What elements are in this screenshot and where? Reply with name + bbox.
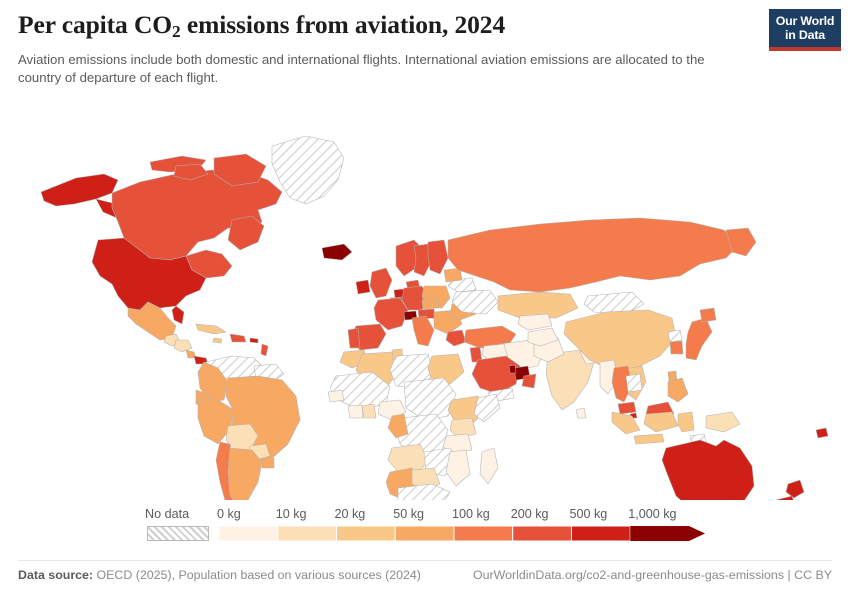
country-czechia[interactable] bbox=[422, 299, 439, 309]
world-map[interactable] bbox=[0, 100, 850, 500]
legend-tick-20kg: 20 kg bbox=[335, 507, 366, 521]
chart-header: Per capita CO2 emissions from aviation, … bbox=[18, 10, 832, 87]
legend-tick-100kg: 100 kg bbox=[452, 507, 490, 521]
owid-logo-line2: in Data bbox=[773, 28, 837, 42]
footer-divider bbox=[18, 560, 832, 561]
owid-logo-box: Our World in Data bbox=[769, 9, 841, 47]
legend-tick-10kg: 10 kg bbox=[276, 507, 307, 521]
owid-map-chart: Per capita CO2 emissions from aviation, … bbox=[0, 0, 850, 600]
country-japan[interactable] bbox=[686, 318, 712, 360]
legend-bin-0kg[interactable] bbox=[219, 526, 278, 541]
legend-bar-svg[interactable] bbox=[219, 526, 705, 541]
country-hispaniola[interactable] bbox=[230, 334, 246, 342]
legend-bin-200kg[interactable] bbox=[513, 526, 572, 541]
country-madagascar[interactable] bbox=[480, 448, 498, 484]
country-ghana[interactable] bbox=[362, 404, 376, 418]
legend-bin-10kg[interactable] bbox=[278, 526, 337, 541]
legend-no-data-swatch[interactable] bbox=[147, 526, 209, 541]
country-italy[interactable] bbox=[412, 316, 434, 346]
legend-tick-0kg: 0 kg bbox=[217, 507, 241, 521]
title-subscript: 2 bbox=[172, 22, 181, 41]
legend-tick-labels: 0 kg10 kg20 kg50 kg100 kg200 kg500 kg1,0… bbox=[219, 505, 705, 525]
country-lesser-antilles[interactable] bbox=[261, 344, 268, 356]
country-greenland[interactable] bbox=[272, 136, 344, 204]
country-uzbekistan[interactable] bbox=[518, 314, 552, 330]
country-new-zealand-north[interactable] bbox=[786, 480, 804, 498]
owid-logo[interactable]: Our World in Data bbox=[769, 9, 841, 51]
legend-tick-50kg: 50 kg bbox=[393, 507, 424, 521]
legend-tick-200kg: 200 kg bbox=[511, 507, 549, 521]
country-alaska[interactable] bbox=[41, 174, 118, 206]
country-ivory-coast[interactable] bbox=[348, 405, 363, 418]
country-argentina[interactable] bbox=[228, 448, 262, 500]
data-source-text: OECD (2025), Population based on various… bbox=[97, 568, 421, 582]
legend-bin-20kg[interactable] bbox=[337, 526, 396, 541]
legend-bin-50kg[interactable] bbox=[395, 526, 454, 541]
legend-color-bar[interactable] bbox=[219, 526, 705, 541]
country-finland[interactable] bbox=[428, 240, 448, 274]
legend-bin-100kg[interactable] bbox=[454, 526, 513, 541]
country-iceland[interactable] bbox=[322, 244, 352, 260]
legend-tick-1000kg: 1,000 kg bbox=[628, 507, 676, 521]
country-qatar[interactable] bbox=[509, 365, 516, 373]
country-united-kingdom[interactable] bbox=[370, 268, 392, 298]
country-australia[interactable] bbox=[662, 440, 754, 500]
owid-logo-line1: Our World bbox=[773, 14, 837, 28]
country-kazakhstan[interactable] bbox=[498, 292, 578, 318]
data-source: Data source: OECD (2025), Population bas… bbox=[18, 566, 421, 585]
country-malaysia[interactable] bbox=[618, 402, 636, 414]
country-ireland[interactable] bbox=[356, 280, 370, 294]
country-north-korea[interactable] bbox=[668, 330, 682, 342]
country-russia[interactable] bbox=[448, 218, 740, 292]
legend-inner: No data 0 kg10 kg20 kg50 kg100 kg200 kg5… bbox=[145, 505, 705, 555]
country-jamaica[interactable] bbox=[213, 338, 222, 343]
country-senegal[interactable] bbox=[328, 390, 344, 402]
data-source-label: Data source: bbox=[18, 568, 93, 582]
country-greece[interactable] bbox=[446, 330, 466, 346]
country-fiji[interactable] bbox=[816, 428, 828, 438]
country-new-zealand-south[interactable] bbox=[772, 496, 796, 500]
country-sri-lanka[interactable] bbox=[576, 408, 586, 418]
map-legend[interactable]: No data 0 kg10 kg20 kg50 kg100 kg200 kg5… bbox=[0, 505, 850, 555]
country-puerto-rico[interactable] bbox=[250, 338, 258, 343]
country-philippines[interactable] bbox=[668, 378, 688, 402]
country-portugal[interactable] bbox=[348, 328, 360, 348]
country-mozambique[interactable] bbox=[446, 450, 470, 486]
legend-no-data-label: No data bbox=[145, 507, 189, 521]
country-japan-hokkaido[interactable] bbox=[700, 308, 716, 322]
country-cambodia-laos[interactable] bbox=[626, 374, 642, 392]
country-uruguay[interactable] bbox=[262, 458, 274, 468]
chart-footer: Data source: OECD (2025), Population bas… bbox=[18, 566, 832, 585]
country-honduras-nicaragua[interactable] bbox=[174, 340, 192, 352]
country-saudi-arabia[interactable] bbox=[472, 356, 520, 394]
country-indonesia-java[interactable] bbox=[634, 434, 664, 444]
country-chad-sudan[interactable] bbox=[404, 378, 456, 420]
owid-logo-bar bbox=[769, 47, 841, 51]
license-link[interactable]: OurWorldinData.org/co2-and-greenhouse-ga… bbox=[473, 566, 832, 585]
chart-subtitle: Aviation emissions include both domestic… bbox=[18, 51, 708, 87]
page-title: Per capita CO2 emissions from aviation, … bbox=[18, 10, 832, 42]
country-papua-new-guinea[interactable] bbox=[706, 412, 740, 432]
country-indonesia-sulawesi[interactable] bbox=[678, 412, 694, 432]
title-rest: emissions from aviation, 2024 bbox=[181, 10, 506, 39]
world-map-svg[interactable] bbox=[0, 100, 850, 500]
title-main: Per capita CO bbox=[18, 10, 172, 39]
legend-bin-1000kg[interactable] bbox=[630, 526, 705, 541]
country-us-florida[interactable] bbox=[172, 306, 184, 324]
country-south-korea[interactable] bbox=[670, 341, 683, 354]
country-canada[interactable] bbox=[112, 170, 282, 260]
legend-tick-500kg: 500 kg bbox=[570, 507, 608, 521]
country-oman[interactable] bbox=[522, 374, 536, 388]
legend-bin-500kg[interactable] bbox=[572, 526, 631, 541]
country-cuba[interactable] bbox=[196, 324, 226, 334]
country-indonesia-kalimantan[interactable] bbox=[644, 412, 678, 432]
